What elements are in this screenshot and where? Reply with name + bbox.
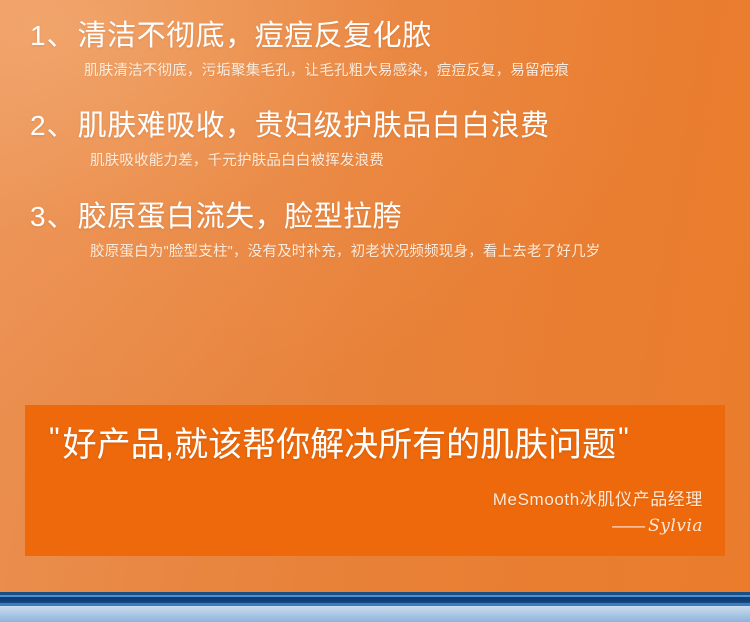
quote-attribution: MeSmooth冰肌仪产品经理 bbox=[47, 487, 703, 513]
problem-title-2: 肌肤难吸收，贵妇级护肤品白白浪费 bbox=[78, 106, 550, 147]
promo-page: 1、 清洁不彻底，痘痘反复化脓 肌肤清洁不彻底，污垢聚集毛孔，让毛孔粗大易感染，… bbox=[0, 0, 750, 622]
problem-item-3: 3、 胶原蛋白流失，脸型拉胯 胶原蛋白为"脸型支柱"，没有及时补充，初老状况频频… bbox=[0, 197, 750, 265]
problem-subtitle-1: 肌肤清洁不彻底，污垢聚集毛孔，让毛孔粗大易感染，痘痘反复，易留疤痕 bbox=[84, 60, 704, 83]
problem-item-1: 1、 清洁不彻底，痘痘反复化脓 肌肤清洁不彻底，污垢聚集毛孔，让毛孔粗大易感染，… bbox=[0, 16, 750, 84]
open-quote-mark: " bbox=[49, 422, 61, 455]
bottom-blue-bands bbox=[0, 592, 750, 622]
problem-subtitle-3: 胶原蛋白为"脸型支柱"，没有及时补充，初老状况频频现身，看上去老了好几岁 bbox=[90, 241, 710, 264]
problem-number-1: 1、 bbox=[30, 16, 76, 56]
quote-signature: ——Sylvia bbox=[47, 516, 703, 536]
problem-item-2: 2、 肌肤难吸收，贵妇级护肤品白白浪费 肌肤吸收能力差，千元护肤品白白被挥发浪费 bbox=[0, 106, 750, 174]
problem-heading-3: 3、 胶原蛋白流失，脸型拉胯 bbox=[30, 197, 724, 238]
quote-body: 好产品,就该帮你解决所有的肌肤问题 bbox=[63, 426, 616, 464]
close-quote-mark: " bbox=[618, 422, 630, 455]
band-bottom-glow bbox=[0, 606, 750, 622]
problem-title-3: 胶原蛋白流失，脸型拉胯 bbox=[78, 197, 403, 238]
problem-heading-1: 1、 清洁不彻底，痘痘反复化脓 bbox=[30, 16, 724, 57]
quote-text: "好产品,就该帮你解决所有的肌肤问题" bbox=[47, 419, 703, 469]
problem-list: 1、 清洁不彻底，痘痘反复化脓 肌肤清洁不彻底，污垢聚集毛孔，让毛孔粗大易感染，… bbox=[0, 16, 750, 283]
problem-number-2: 2、 bbox=[30, 106, 76, 146]
problem-subtitle-2: 肌肤吸收能力差，千元护肤品白白被挥发浪费 bbox=[90, 150, 710, 173]
problem-heading-2: 2、 肌肤难吸收，贵妇级护肤品白白浪费 bbox=[30, 106, 724, 147]
signature-name: Sylvia bbox=[648, 516, 703, 536]
signature-dash: —— bbox=[612, 516, 644, 535]
problem-number-3: 3、 bbox=[30, 197, 76, 237]
quote-card: "好产品,就该帮你解决所有的肌肤问题" MeSmooth冰肌仪产品经理 ——Sy… bbox=[25, 405, 725, 556]
problem-title-1: 清洁不彻底，痘痘反复化脓 bbox=[78, 16, 432, 57]
